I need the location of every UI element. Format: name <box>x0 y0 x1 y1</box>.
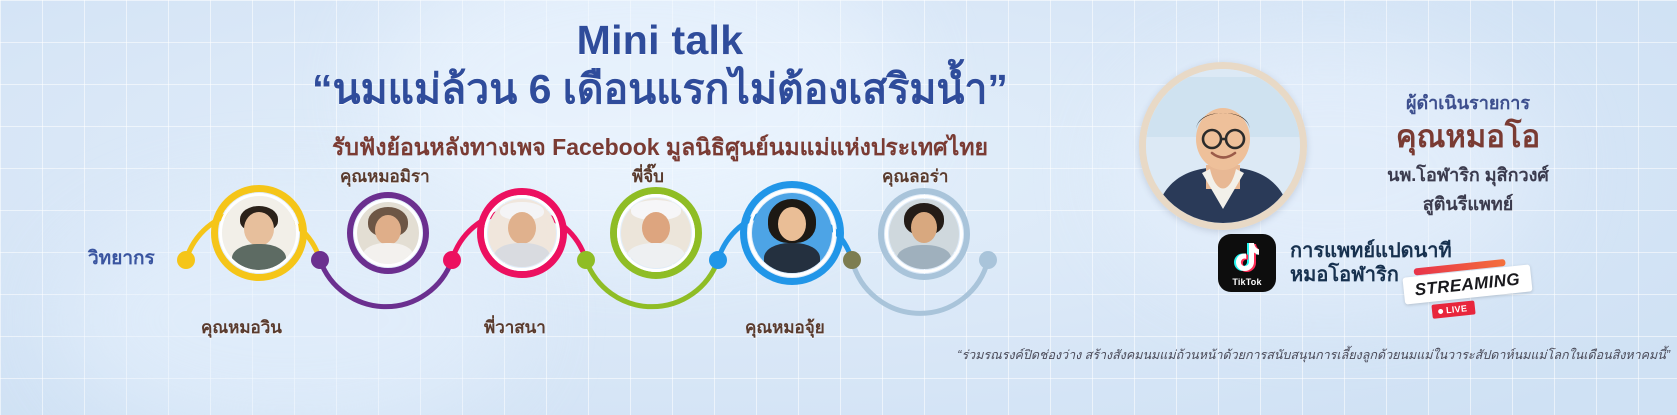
tiktok-wordmark: TikTok <box>1218 277 1276 287</box>
speaker-name-2: คุณหมอมิรา <box>340 163 430 190</box>
speaker-avatar-4[interactable] <box>621 198 691 268</box>
page-title: Mini talk <box>150 18 1170 62</box>
speaker-avatar-2[interactable] <box>357 202 419 264</box>
speakers-timeline: คุณหมอวิน คุณหมอมิรา พี่วาสนา พี่จิ๊บ คุ… <box>0 175 1060 355</box>
footer-note: “ร่วมรณรงค์ปิดช่องว่าง สร้างสังคมนมแม่ถ้… <box>840 345 1670 365</box>
page-subtitle: รับฟังย้อนหลังทางเพจ Facebook มูลนิธิศูน… <box>150 130 1170 166</box>
speaker-avatar-6[interactable] <box>889 199 959 269</box>
host-role: ผู้ดำเนินรายการ <box>1318 88 1618 117</box>
title-quote: “นมแม่ล้วน 6 เดือนแรกไม่ต้องเสริมน้ำ” <box>150 64 1170 114</box>
speaker-name-3: พี่วาสนา <box>484 314 546 341</box>
headline-block: Mini talk “นมแม่ล้วน 6 เดือนแรกไม่ต้องเส… <box>150 18 1170 166</box>
host-specialty: สูตินรีแพทย์ <box>1318 189 1618 218</box>
speakers-section-label: วิทยากร <box>88 243 155 273</box>
speaker-name-1: คุณหมอวิน <box>201 314 282 341</box>
tiktok-icon[interactable]: TikTok <box>1218 234 1276 292</box>
channel-name-line1: การแพทย์แปดนาที <box>1290 239 1452 263</box>
speaker-avatar-5[interactable] <box>752 193 832 273</box>
tiktok-note-glyph <box>1233 242 1259 272</box>
host-info: ผู้ดำเนินรายการ คุณหมอโอ นพ.โอฬาริก มุสิ… <box>1318 88 1618 218</box>
host-avatar[interactable] <box>1139 62 1307 230</box>
banner-root: Mini talk “นมแม่ล้วน 6 เดือนแรกไม่ต้องเส… <box>0 0 1677 415</box>
host-portrait <box>1146 69 1300 223</box>
live-badge: LIVE <box>1431 300 1475 318</box>
live-dot-icon <box>1438 309 1443 314</box>
speaker-name-6: คุณลอร่า <box>882 163 948 190</box>
host-nickname: คุณหมอโอ <box>1318 119 1618 155</box>
speaker-avatar-1[interactable] <box>222 196 296 270</box>
speaker-name-4: พี่จิ๊บ <box>632 163 664 190</box>
speaker-avatar-3[interactable] <box>488 199 556 267</box>
host-full-name: นพ.โอฬาริก มุสิกวงศ์ <box>1318 160 1618 189</box>
live-label: LIVE <box>1446 303 1468 315</box>
speaker-name-5: คุณหมอจุ้ย <box>745 314 825 341</box>
